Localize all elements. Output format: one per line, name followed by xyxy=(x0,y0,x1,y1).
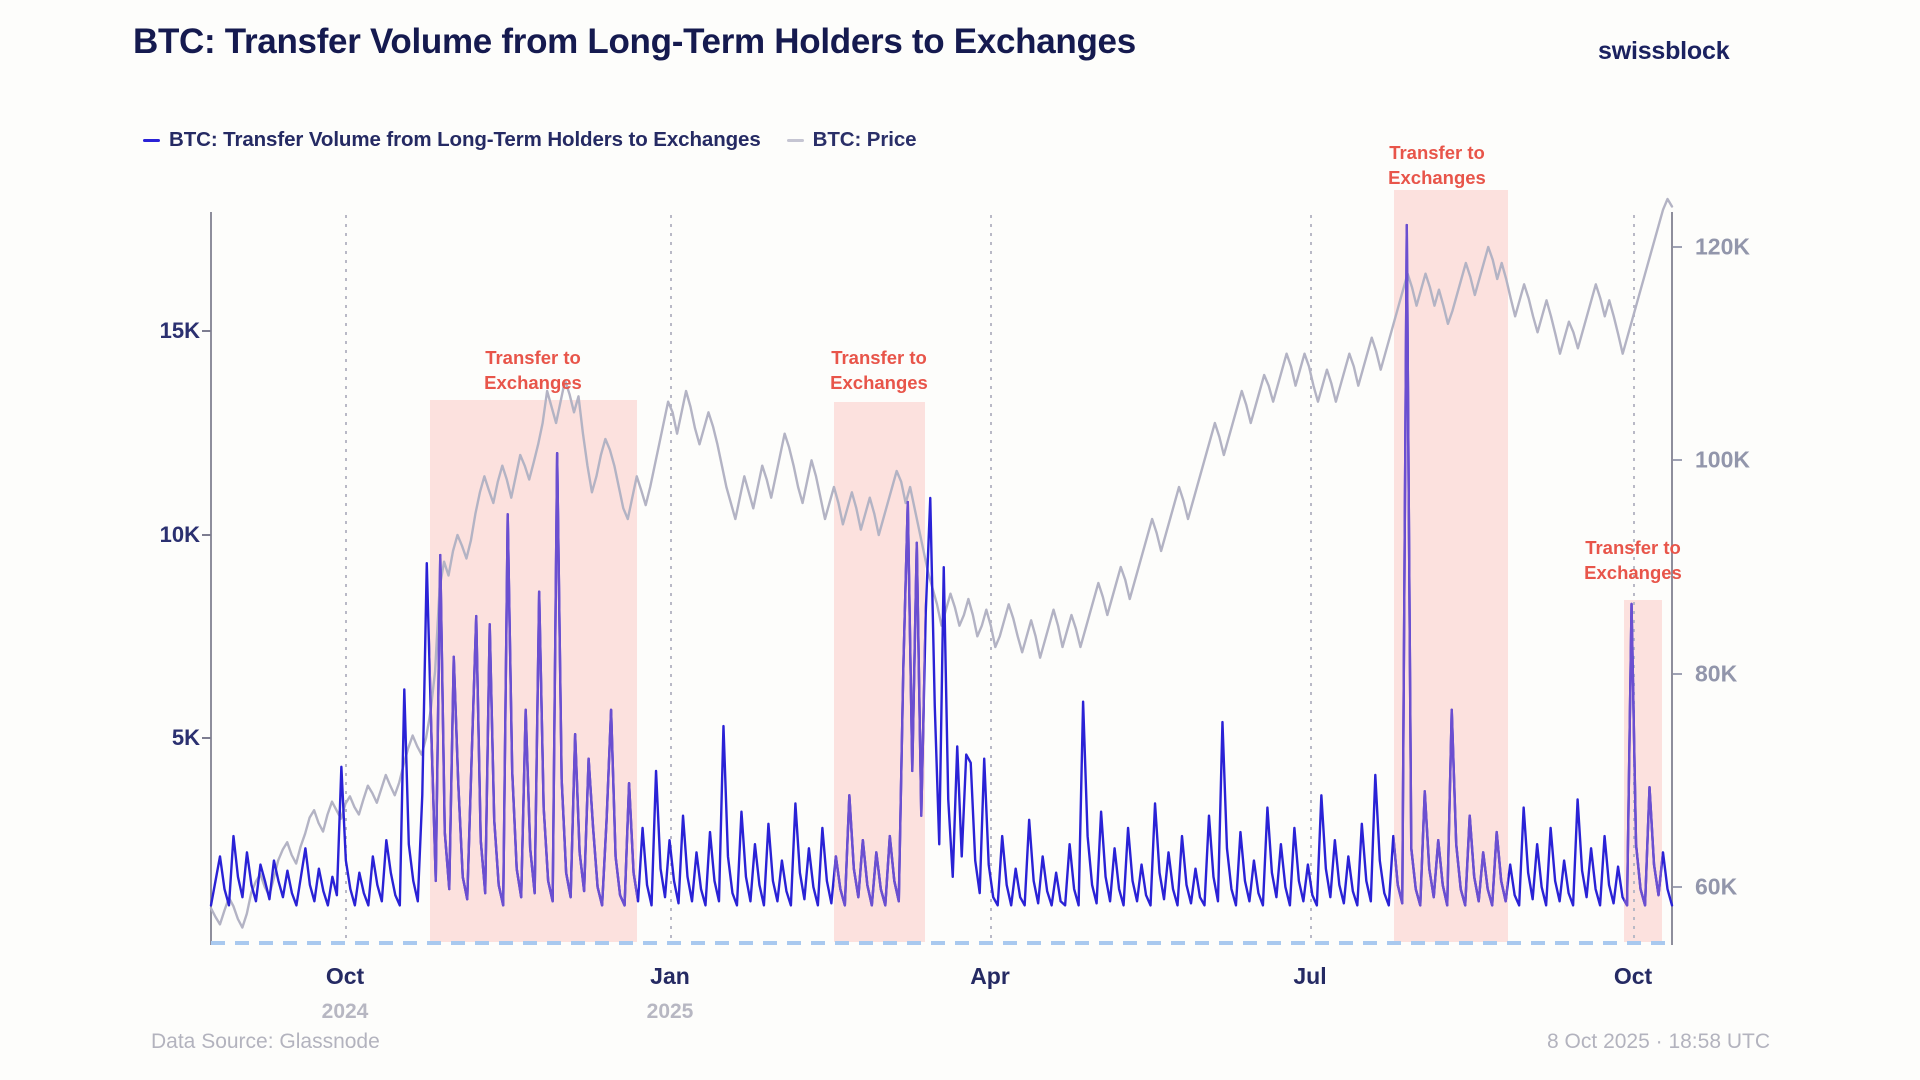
legend-item-volume[interactable]: BTC: Transfer Volume from Long-Term Hold… xyxy=(143,128,761,152)
y-axis-right-tick-label: 120K xyxy=(1695,234,1750,261)
y-axis-left-tick-label: 5K xyxy=(172,725,200,751)
x-axis-year-label: 2025 xyxy=(647,1000,694,1024)
legend-dash-price xyxy=(787,139,804,142)
y-axis-right-tick-mark xyxy=(1673,459,1682,461)
x-axis-tick-label: Oct xyxy=(1614,963,1652,990)
price-line-path xyxy=(211,199,1672,928)
x-axis-tick-label: Jul xyxy=(1293,963,1326,990)
annotation-label-transfer-to-exchanges: Transfer toExchanges xyxy=(1584,535,1682,585)
chart-root: BTC: Transfer Volume from Long-Term Hold… xyxy=(0,0,1920,1080)
x-axis-tick-label: Apr xyxy=(970,963,1010,990)
annotation-line-1: Transfer to xyxy=(1388,140,1486,165)
y-axis-right-tick-mark xyxy=(1673,246,1682,248)
y-axis-left-tick-label: 10K xyxy=(160,522,200,548)
annotation-line-2: Exchanges xyxy=(830,370,928,395)
volume-line-shaded-segment xyxy=(211,225,1672,905)
volume-line-shaded-segments xyxy=(211,225,1672,905)
legend-item-price[interactable]: BTC: Price xyxy=(787,128,917,152)
annotation-line-2: Exchanges xyxy=(484,370,582,395)
annotation-label-transfer-to-exchanges: Transfer toExchanges xyxy=(1388,140,1486,190)
y-axis-right-tick-label: 60K xyxy=(1695,874,1737,901)
annotation-label-transfer-to-exchanges: Transfer toExchanges xyxy=(830,345,928,395)
y-axis-left-tick-mark xyxy=(202,737,211,739)
x-axis-year-label: 2024 xyxy=(322,1000,369,1024)
annotation-label-transfer-to-exchanges: Transfer toExchanges xyxy=(484,345,582,395)
timestamp-label: 8 Oct 2025 · 18:58 UTC xyxy=(1547,1030,1770,1054)
zero-baseline xyxy=(211,941,1672,945)
legend-dash-volume xyxy=(143,139,160,142)
annotation-line-1: Transfer to xyxy=(1584,535,1682,560)
y-axis-left-tick-mark xyxy=(202,534,211,536)
legend-label-volume: BTC: Transfer Volume from Long-Term Hold… xyxy=(169,128,761,152)
annotation-line-2: Exchanges xyxy=(1584,560,1682,585)
annotation-line-1: Transfer to xyxy=(830,345,928,370)
y-axis-left-tick-mark xyxy=(202,330,211,332)
brand-logo: swissblock xyxy=(1598,37,1729,66)
annotation-line-1: Transfer to xyxy=(484,345,582,370)
legend-label-price: BTC: Price xyxy=(813,128,917,152)
y-axis-right-tick-mark xyxy=(1673,886,1682,888)
plot-svg xyxy=(211,215,1672,942)
volume-line-path xyxy=(211,225,1672,905)
x-axis-tick-label: Oct xyxy=(326,963,364,990)
volume-line-shaded-segment xyxy=(211,225,1672,905)
plot-area xyxy=(211,215,1672,942)
volume-line-shaded-segment xyxy=(211,225,1672,905)
y-axis-left-tick-label: 15K xyxy=(160,318,200,344)
page-title: BTC: Transfer Volume from Long-Term Hold… xyxy=(133,22,1136,62)
y-axis-right-tick-mark xyxy=(1673,673,1682,675)
y-axis-right-tick-label: 80K xyxy=(1695,660,1737,687)
volume-line-shaded-segment xyxy=(211,225,1672,905)
y-axis-right-tick-label: 100K xyxy=(1695,447,1750,474)
chart-legend: BTC: Transfer Volume from Long-Term Hold… xyxy=(143,128,916,152)
x-axis-tick-label: Jan xyxy=(650,963,690,990)
annotation-line-2: Exchanges xyxy=(1388,165,1486,190)
data-source-label: Data Source: Glassnode xyxy=(151,1030,380,1054)
